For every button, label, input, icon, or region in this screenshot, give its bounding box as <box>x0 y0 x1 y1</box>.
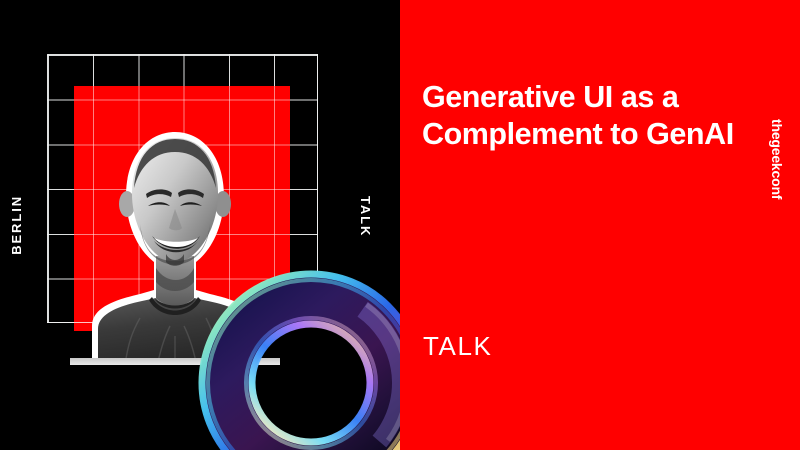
city-label-berlin: BERLIN <box>10 195 23 255</box>
session-type-label: TALK <box>423 333 493 359</box>
right-content-panel: Generative UI as a Complement to GenAI T… <box>400 0 800 450</box>
left-visual-panel: BERLIN TALK <box>0 0 400 450</box>
speaker-portrait <box>70 112 280 365</box>
conference-talk-poster: BERLIN TALK <box>0 0 800 450</box>
photo-bottom-crop-strip <box>70 358 280 365</box>
page-title: Generative UI as a Complement to GenAI <box>422 79 742 153</box>
session-type-vertical-label: TALK <box>359 196 372 237</box>
brand-logo-text: thegeekconf <box>770 119 784 199</box>
